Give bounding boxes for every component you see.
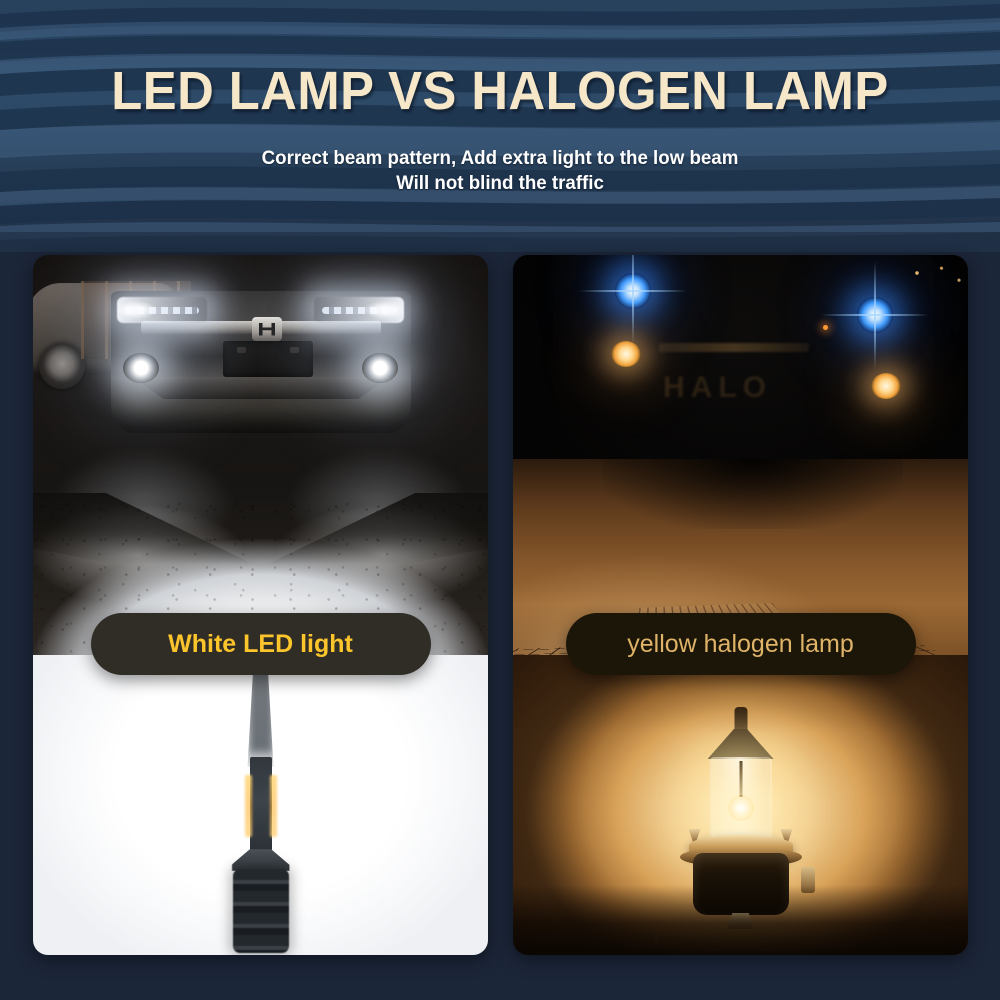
faint-grille [659, 343, 809, 352]
halogen-fog-light-left [611, 341, 641, 367]
background-car-wheel [39, 343, 85, 389]
car-shadow-on-pavers [603, 459, 903, 529]
honda-logo-icon [252, 317, 282, 341]
civic-lower-bumper [133, 377, 389, 399]
led-chip-left [245, 775, 252, 837]
product-comparison-image: LED LAMP VS HALOGEN LAMP Correct beam pa… [0, 0, 1000, 1000]
page-title: LED LAMP VS HALOGEN LAMP [30, 60, 970, 122]
subtitle-line-1: Correct beam pattern, Add extra light to… [262, 147, 739, 169]
orange-pinpoint-light [823, 325, 828, 330]
led-vehicle-photo [33, 255, 488, 655]
badge-led-label: White LED light [168, 630, 353, 659]
fog-light-left [123, 353, 159, 383]
led-emitter-body [250, 757, 272, 853]
badge-white-led-light: White LED light [91, 613, 431, 675]
wavy-stripes-decoration [0, 0, 1000, 252]
comparison-panel-halogen: HALO [513, 255, 968, 955]
comparison-panel-led: White LED light [33, 255, 488, 955]
headlight-right [314, 297, 404, 323]
halogen-fog-light-right [871, 373, 901, 399]
led-bulb-graphic [224, 655, 298, 949]
badge-halogen-label: yellow halogen lamp [627, 630, 854, 659]
badge-yellow-halogen-lamp: yellow halogen lamp [566, 613, 916, 675]
led-heatsink-base [233, 869, 289, 953]
license-plate-recess [223, 341, 313, 377]
desk-shadow [513, 885, 968, 955]
headlight-left [117, 297, 207, 323]
page-subtitle: Correct beam pattern, Add extra light to… [20, 146, 980, 196]
blue-light-right [857, 297, 893, 333]
civic-night-scene [33, 255, 488, 655]
blue-light-left [615, 273, 651, 309]
header-background [0, 0, 1000, 252]
subtitle-line-2: Will not blind the traffic [20, 171, 980, 196]
halogen-vehicle-photo: HALO [513, 255, 968, 655]
led-bulb-scene [33, 655, 488, 955]
faint-vehicle-badge: HALO [663, 371, 813, 411]
led-bulb-photo [33, 655, 488, 955]
led-collar [232, 849, 290, 871]
halogen-bulb-scene [513, 655, 968, 955]
halogen-night-scene: HALO [513, 255, 968, 655]
led-chip-right [270, 775, 277, 837]
halogen-bulb-photo [513, 655, 968, 955]
distant-street-lights [903, 261, 968, 301]
fog-light-right [362, 353, 398, 383]
